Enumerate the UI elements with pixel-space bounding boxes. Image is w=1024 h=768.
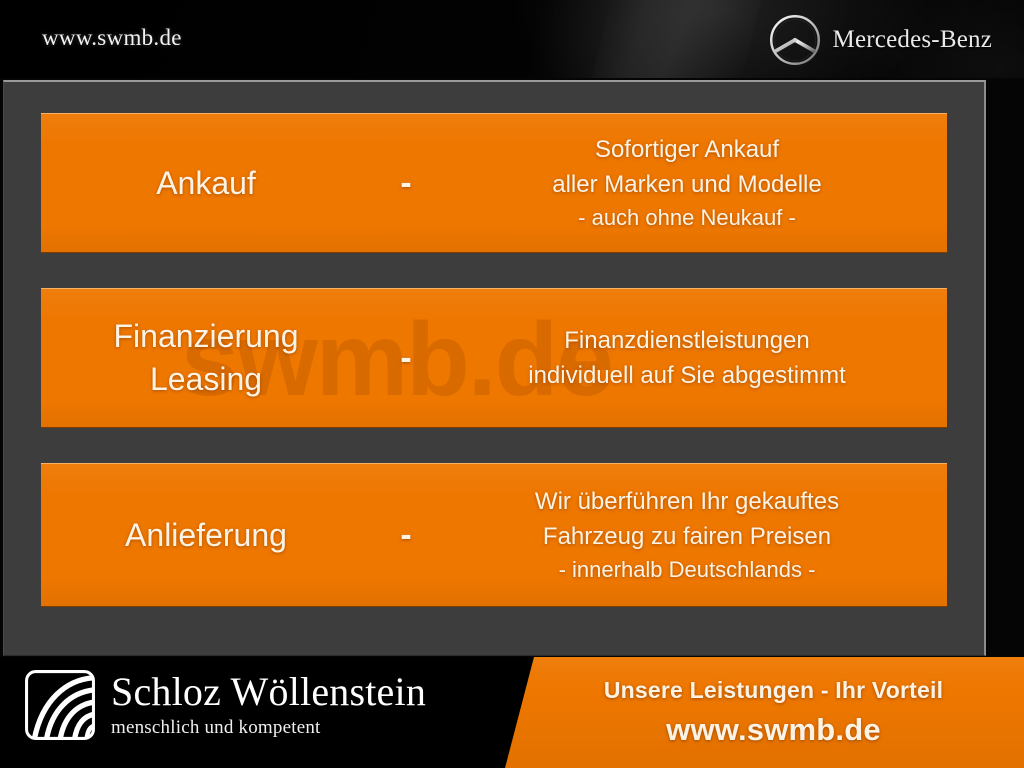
service-description: Wir überführen Ihr gekauftes Fahrzeug zu… — [441, 484, 947, 587]
service-description-line: Sofortiger Ankauf — [441, 132, 933, 167]
company-brand-text: Schloz Wöllenstein menschlich und kompet… — [111, 672, 426, 739]
service-row-finanzierung-leasing: swmb.de Finanzierung Leasing - Finanzdie… — [41, 288, 947, 428]
header-bar: www.swmb.de Merce — [0, 0, 1024, 78]
service-term-line: Finanzierung — [41, 315, 371, 358]
footer-bar: Schloz Wöllenstein menschlich und kompet… — [0, 657, 1024, 768]
service-term: Finanzierung Leasing — [41, 315, 371, 400]
slide-canvas: www.swmb.de Merce — [0, 0, 1024, 768]
service-description-line: aller Marken und Modelle — [441, 167, 933, 202]
service-description-line: Wir überführen Ihr gekauftes — [441, 484, 933, 519]
company-brand-lockup: Schloz Wöllenstein menschlich und kompet… — [22, 667, 426, 743]
service-term-line: Leasing — [41, 358, 371, 401]
schloz-woellenstein-road-logo-icon — [22, 667, 98, 743]
service-description: Sofortiger Ankauf aller Marken und Model… — [441, 132, 947, 235]
footer-message-block: Unsere Leistungen - Ihr Vorteil www.swmb… — [546, 657, 1001, 768]
service-term: Anlieferung — [41, 514, 371, 557]
service-term: Ankauf — [41, 162, 371, 205]
header-website-url: www.swmb.de — [42, 25, 182, 51]
footer-website-url[interactable]: www.swmb.de — [666, 712, 881, 748]
service-description-line: Finanzdienstleistungen — [441, 323, 933, 358]
service-separator: - — [371, 164, 441, 203]
footer-claim: Unsere Leistungen - Ihr Vorteil — [604, 677, 943, 704]
service-row-ankauf: Ankauf - Sofortiger Ankauf aller Marken … — [41, 113, 947, 253]
service-separator: - — [371, 339, 441, 378]
service-row-anlieferung: Anlieferung - Wir überführen Ihr gekauft… — [41, 463, 947, 607]
mercedes-star-icon — [768, 13, 822, 67]
service-description-line: Fahrzeug zu fairen Preisen — [441, 519, 933, 554]
service-separator: - — [371, 516, 441, 555]
service-description-line: - innerhalb Deutschlands - — [441, 554, 933, 586]
mercedes-benz-lockup: Mercedes-Benz — [768, 12, 992, 68]
mercedes-benz-wordmark: Mercedes-Benz — [833, 26, 992, 54]
service-description-line: - auch ohne Neukauf - — [441, 202, 933, 234]
service-description-line: individuell auf Sie abgestimmt — [441, 358, 933, 393]
service-description: Finanzdienstleistungen individuell auf S… — [441, 323, 947, 394]
company-name: Schloz Wöllenstein — [111, 672, 426, 712]
company-tagline: menschlich und kompetent — [111, 717, 426, 739]
services-panel: Ankauf - Sofortiger Ankauf aller Marken … — [3, 80, 986, 656]
